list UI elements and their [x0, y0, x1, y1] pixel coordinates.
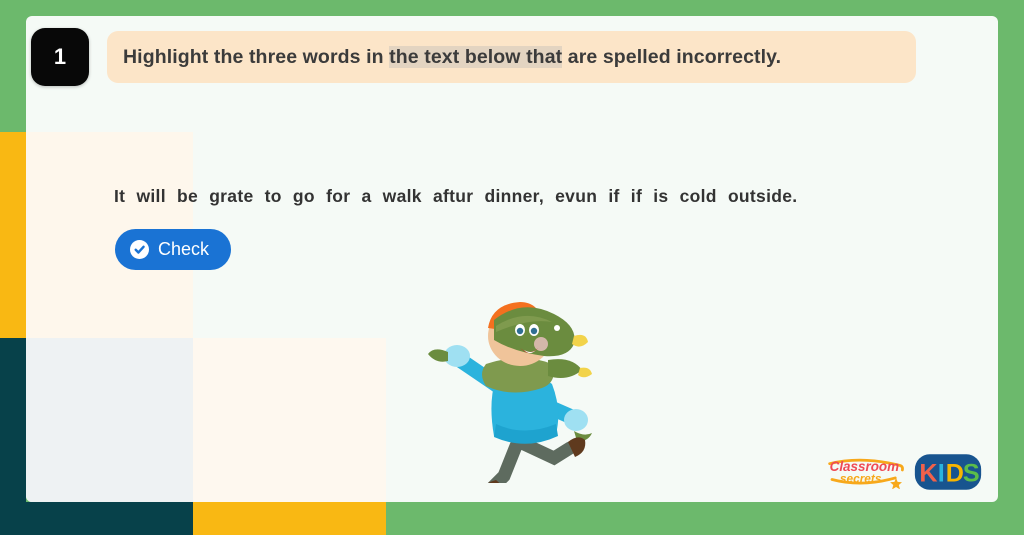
svg-text:K: K [919, 460, 937, 488]
svg-text:I: I [938, 460, 945, 488]
question-number-label: 1 [54, 44, 66, 70]
frame-band-left-yellow [0, 132, 26, 338]
frame-band-bottom-yellow [193, 502, 386, 535]
decor-block-cream-bottom-middle [193, 338, 386, 502]
frame-band-left-green [0, 0, 26, 132]
instruction-bar: Highlight the three words in the text be… [107, 31, 916, 83]
instruction-text-before: Highlight the three words in [123, 46, 389, 68]
worksheet-screen: 1 Highlight the three words in the text … [0, 0, 1024, 535]
kids-badge-logo: K I D S [912, 452, 984, 492]
svg-text:secrets: secrets [840, 472, 882, 486]
instruction-text-after: are spelled incorrectly. [562, 46, 781, 68]
question-header: 1 Highlight the three words in the text … [31, 28, 993, 92]
frame-band-bottom-green [386, 502, 1024, 535]
decor-block-grey-bottom-left [26, 338, 193, 502]
classroom-secrets-logo: Classroom secrets [826, 455, 906, 489]
frame-band-bottom-teal [0, 502, 193, 535]
branding-logos: Classroom secrets K I D S [826, 452, 984, 492]
check-button-label: Check [158, 239, 209, 260]
task-sentence[interactable]: It will be grate to go for a walk aftur … [114, 186, 797, 207]
svg-text:D: D [946, 460, 964, 488]
question-card: 1 Highlight the three words in the text … [26, 16, 998, 502]
instruction-text-selected[interactable]: the text below that [389, 46, 562, 68]
check-circle-icon [130, 240, 149, 259]
running-boy-illustration [424, 298, 614, 483]
check-button[interactable]: Check [115, 229, 231, 270]
svg-text:S: S [963, 460, 980, 488]
question-number-badge: 1 [31, 28, 89, 86]
instruction-text: Highlight the three words in the text be… [107, 46, 781, 69]
